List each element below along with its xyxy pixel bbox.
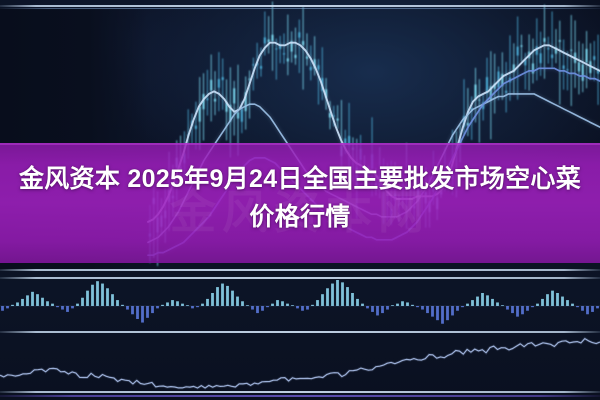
indicator-pane-chart bbox=[0, 0, 600, 400]
chart-screenshot: 金风资本网 金风资本 2025年9月24日全国主要批发市场空心菜价格行情 bbox=[0, 0, 600, 400]
